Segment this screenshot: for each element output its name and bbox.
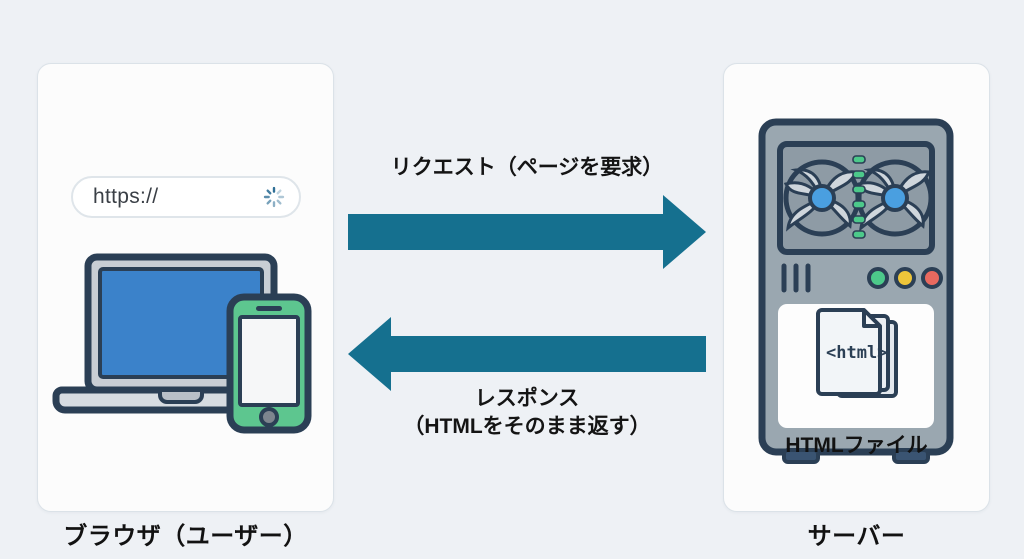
response-label-line2: （HTMLをそのまま返す） [330, 413, 724, 441]
browser-card: https:// [37, 63, 334, 512]
html-doc-text: <html> [826, 343, 887, 363]
server-caption: サーバー [724, 516, 989, 551]
loading-spinner-icon [263, 186, 285, 208]
server-card: <html> HTMLファイル サーバー [723, 63, 990, 512]
arrow-left-icon [348, 317, 706, 391]
status-light-red [923, 269, 941, 287]
response-label-line1: レスポンス [330, 385, 724, 413]
request-label: リクエスト（ページを要求） [348, 154, 706, 182]
diagram-canvas: https:// [0, 0, 1024, 559]
arrow-right-icon [348, 195, 706, 269]
address-bar[interactable]: https:// [71, 176, 301, 218]
status-lights [869, 269, 941, 287]
html-document-stack-icon: <html> [818, 310, 896, 396]
server-tower-icon: <html> [756, 118, 956, 478]
status-light-yellow [896, 269, 914, 287]
html-file-label: HTMLファイル [724, 429, 989, 459]
devices-illustration [48, 249, 323, 434]
smartphone-icon [230, 297, 308, 430]
status-light-green [869, 269, 887, 287]
address-bar-url: https:// [93, 185, 158, 209]
response-label: レスポンス （HTMLをそのまま返す） [330, 385, 724, 440]
browser-caption: ブラウザ（ユーザー） [38, 516, 333, 551]
